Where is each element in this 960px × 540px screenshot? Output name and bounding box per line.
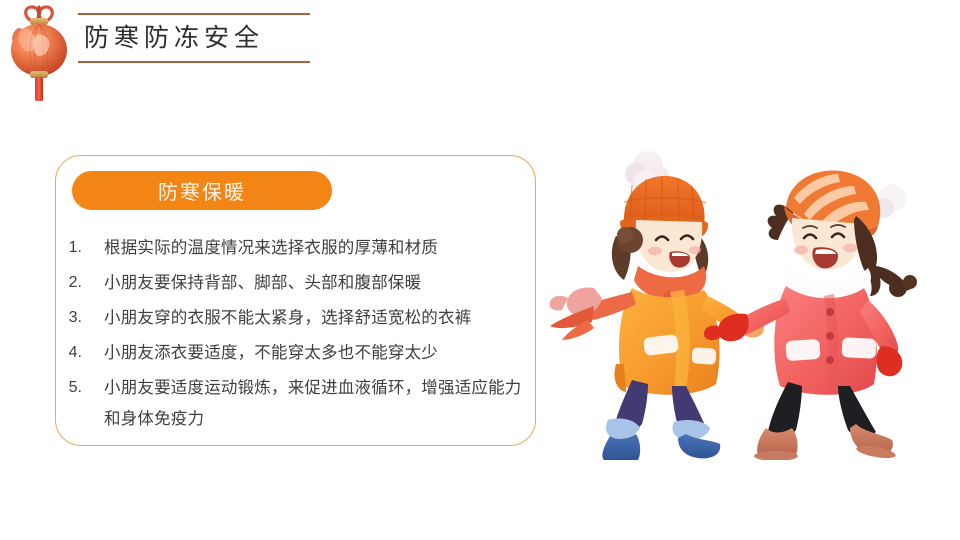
two-children-in-winter-clothes-illustration: [520, 140, 960, 460]
list-item: 2. 小朋友要保持背部、脚部、头部和腹部保暖: [62, 267, 532, 298]
list-item: 5. 小朋友要适度运动锻炼，来促进血液循环，增强适应能力和身体免疫力: [62, 372, 532, 434]
child-left-group: [550, 151, 764, 460]
list-item-number: 1.: [62, 232, 104, 263]
chinese-lantern-icon: [6, 2, 72, 106]
list-item-text: 小朋友穿的衣服不能太紧身，选择舒适宽松的衣裤: [104, 302, 532, 333]
safety-tips-list: 1. 根据实际的温度情况来选择衣服的厚薄和材质 2. 小朋友要保持背部、脚部、头…: [62, 232, 532, 438]
list-item-number: 4.: [62, 337, 104, 368]
title-rule-bottom: [78, 61, 310, 63]
list-item-number: 2.: [62, 267, 104, 298]
child-right-group: [704, 170, 917, 460]
list-item: 3. 小朋友穿的衣服不能太紧身，选择舒适宽松的衣裤: [62, 302, 532, 333]
list-item: 1. 根据实际的温度情况来选择衣服的厚薄和材质: [62, 232, 532, 263]
title-text: 防寒防冻安全: [84, 18, 310, 58]
list-item-number: 3.: [62, 302, 104, 333]
list-item-number: 5.: [62, 372, 104, 403]
list-item-text: 根据实际的温度情况来选择衣服的厚薄和材质: [104, 232, 532, 263]
slide-root: 防寒防冻安全 防寒保暖 1. 根据实际的温度情况来选择衣服的厚薄和材质 2. 小…: [0, 0, 960, 540]
list-item-text: 小朋友要保持背部、脚部、头部和腹部保暖: [104, 267, 532, 298]
slide-header: 防寒防冻安全: [0, 0, 340, 110]
section-label-pill: 防寒保暖: [72, 171, 332, 210]
list-item-text: 小朋友添衣要适度，不能穿太多也不能穿太少: [104, 337, 532, 368]
list-item-text: 小朋友要适度运动锻炼，来促进血液循环，增强适应能力和身体免疫力: [104, 372, 532, 434]
page-title: 防寒防冻安全: [78, 10, 310, 64]
title-rule-top: [78, 13, 310, 15]
content-card: 防寒保暖 1. 根据实际的温度情况来选择衣服的厚薄和材质 2. 小朋友要保持背部…: [55, 155, 536, 446]
section-label-text: 防寒保暖: [158, 176, 246, 205]
list-item: 4. 小朋友添衣要适度，不能穿太多也不能穿太少: [62, 337, 532, 368]
